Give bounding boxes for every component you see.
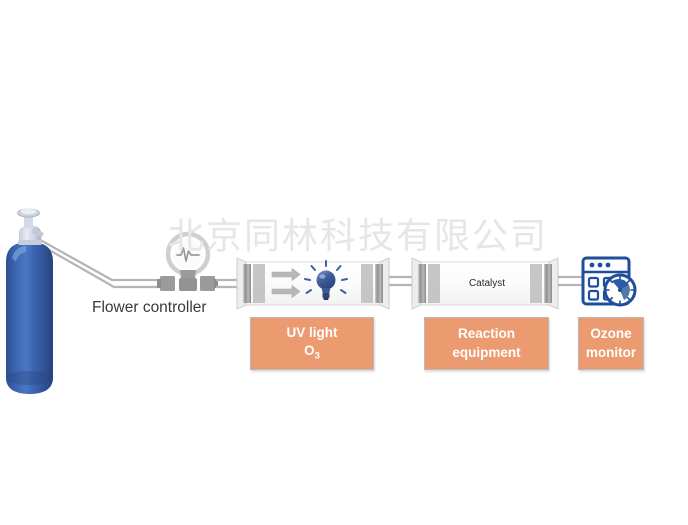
ozone-monitor-line2: monitor: [586, 344, 636, 362]
ozone-formula-main: O: [304, 343, 315, 358]
pipe-catalyst-to-monitor: [558, 277, 582, 285]
flow-controller-label: Flower controller: [92, 299, 207, 317]
diagram-canvas: 北京同林科技有限公司 Flower controller Catalyst UV…: [0, 0, 688, 525]
process-flow-diagram: [0, 0, 688, 525]
ozone-monitor-line1: Ozone: [590, 325, 631, 343]
label-box-uv-light: UV light O3: [250, 317, 374, 370]
reaction-line1: Reaction: [458, 325, 515, 343]
reaction-line2: equipment: [452, 344, 520, 362]
pipe-uv-to-catalyst: [389, 277, 412, 285]
flow-gauge-icon: [157, 234, 218, 291]
uv-reactor-tube: [237, 258, 389, 309]
monitor-gauge-icon: [583, 258, 635, 305]
label-box-reaction-equipment: Reaction equipment: [424, 317, 549, 370]
label-box-ozone-monitor: Ozone monitor: [578, 317, 644, 370]
catalyst-label: Catalyst: [452, 278, 522, 289]
pipe-controller-to-uv: [216, 280, 237, 287]
uv-light-line2: O3: [304, 342, 320, 364]
uv-light-line1: UV light: [287, 324, 338, 342]
ozone-formula-sub: 3: [315, 351, 320, 362]
gas-cylinder-icon: [6, 209, 53, 395]
